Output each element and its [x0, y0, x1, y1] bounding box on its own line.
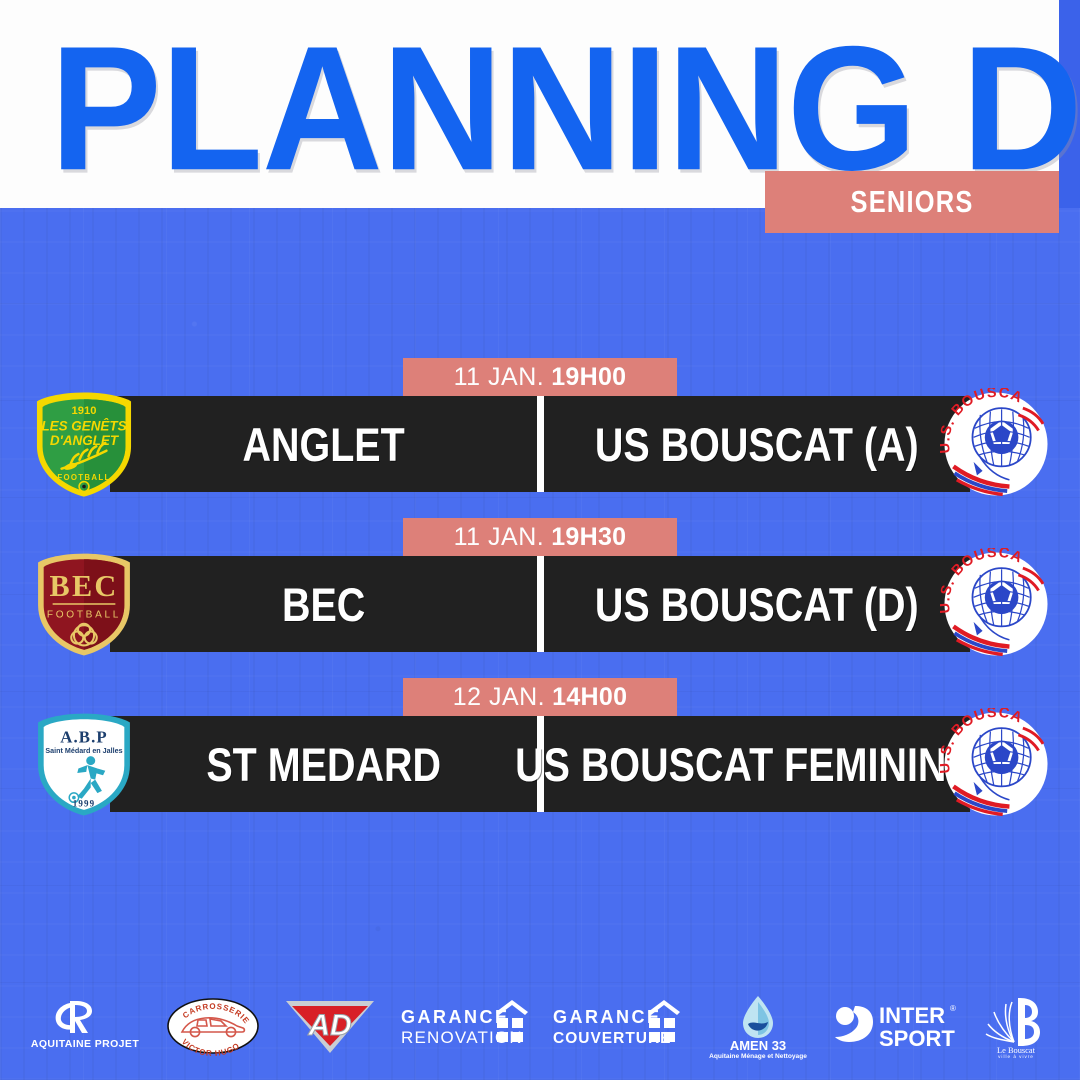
svg-text:INTER: INTER [879, 1003, 945, 1028]
intersport-logo: INTER ® SPORT [833, 989, 957, 1063]
match-bar: BEC US BOUSCAT (D) [110, 556, 970, 652]
match-time: 19H30 [551, 523, 626, 552]
match-divider [537, 556, 544, 652]
svg-text:1999: 1999 [73, 799, 95, 809]
match-row[interactable]: 12 JAN. 14H00 ST MEDARD US BOUSCAT FEMIN… [0, 678, 1080, 828]
category-badge-label: SENIORS [850, 184, 973, 220]
svg-text:1910: 1910 [72, 405, 97, 417]
aquitaine-projet-logo: AQUITAINE PROJET [26, 989, 144, 1063]
ad-logo: AD [282, 989, 378, 1063]
match-date: 12 JAN. [453, 683, 545, 712]
us-bouscat-crest-icon: U.S. BOUSCAT [940, 708, 1052, 820]
svg-text:AMEN 33: AMEN 33 [730, 1038, 786, 1053]
us-bouscat-crest-icon: U.S. BOUSCAT [940, 548, 1052, 660]
away-side: US BOUSCAT FEMININES [544, 716, 971, 812]
svg-text:D'ANGLET: D'ANGLET [50, 433, 120, 448]
home-side: ST MEDARD [110, 716, 537, 812]
away-team-name: US BOUSCAT (A) [595, 417, 919, 472]
svg-text:Saint Médard en Jalles: Saint Médard en Jalles [45, 747, 122, 755]
le-bouscat-city-logo: Le Bouscat ville à vivre [978, 989, 1054, 1063]
match-time: 19H00 [551, 363, 626, 392]
match-date: 11 JAN. [454, 363, 545, 392]
svg-text:FOOTBALL: FOOTBALL [47, 609, 121, 620]
svg-text:ville à vivre: ville à vivre [998, 1054, 1034, 1058]
away-side: US BOUSCAT (D) [544, 556, 971, 652]
svg-text:BEC: BEC [50, 569, 119, 603]
match-bar: ST MEDARD US BOUSCAT FEMININES [110, 716, 970, 812]
poster-canvas: PLANNING DU WEEK-END SENIORS 11 JAN. 19H… [0, 0, 1080, 1080]
home-side: ANGLET [110, 396, 537, 492]
match-row[interactable]: 11 JAN. 19H00 ANGLET US BOUSCAT (A) 1910 [0, 358, 1080, 508]
match-time: 14H00 [552, 683, 627, 712]
match-list: 11 JAN. 19H00 ANGLET US BOUSCAT (A) 1910 [0, 358, 1080, 838]
home-side: BEC [110, 556, 537, 652]
carrosserie-victor-hugo-logo: CARROSSERIE VICTOR HUGO [165, 989, 261, 1063]
svg-text:FOOTBALL: FOOTBALL [57, 473, 110, 482]
svg-text:AQUITAINE PROJET: AQUITAINE PROJET [31, 1038, 139, 1050]
away-team-name: US BOUSCAT FEMININES [515, 737, 999, 792]
category-badge: SENIORS [765, 171, 1059, 233]
home-team-name: BEC [282, 577, 365, 632]
svg-text:LES GENÊTS: LES GENÊTS [41, 419, 126, 434]
match-row[interactable]: 11 JAN. 19H30 BEC US BOUSCAT (D) BEC [0, 518, 1080, 668]
svg-text:A.B.P: A.B.P [60, 728, 108, 747]
home-team-name: ST MEDARD [206, 737, 441, 792]
date-badge: 11 JAN. 19H00 [403, 358, 677, 396]
anglet-crest-icon: 1910 LES GENÊTS D'ANGLET FOOTBALL [28, 388, 140, 500]
garance-couverture-logo: GARANCE COUVERTURE [551, 989, 683, 1063]
away-side: US BOUSCAT (A) [544, 396, 971, 492]
match-divider [537, 396, 544, 492]
svg-text:Aquitaine Ménage et Nettoyage: Aquitaine Ménage et Nettoyage [709, 1053, 807, 1060]
home-team-name: ANGLET [242, 417, 404, 472]
svg-text:GARANCE: GARANCE [553, 1007, 662, 1027]
match-bar: ANGLET US BOUSCAT (A) [110, 396, 970, 492]
svg-text:SPORT: SPORT [879, 1026, 955, 1051]
date-badge: 11 JAN. 19H30 [403, 518, 677, 556]
svg-text:GARANCE: GARANCE [401, 1007, 510, 1027]
match-date: 11 JAN. [454, 523, 545, 552]
svg-text:®: ® [950, 1004, 956, 1013]
us-bouscat-crest-icon: U.S. BOUSCAT [940, 388, 1052, 500]
amen-33-logo: AMEN 33 Aquitaine Ménage et Nettoyage [704, 989, 812, 1063]
date-badge: 12 JAN. 14H00 [403, 678, 677, 716]
bec-crest-icon: BEC FOOTBALL [28, 548, 140, 660]
svg-text:AD: AD [307, 1009, 351, 1042]
sponsor-bar: AQUITAINE PROJET CARROSSERIE VIC [0, 972, 1080, 1080]
garance-renovation-logo: GARANCE RENOVATION [399, 989, 531, 1063]
abp-saint-medard-crest-icon: A.B.P Saint Médard en Jalles 1999 [28, 708, 140, 820]
away-team-name: US BOUSCAT (D) [595, 577, 919, 632]
